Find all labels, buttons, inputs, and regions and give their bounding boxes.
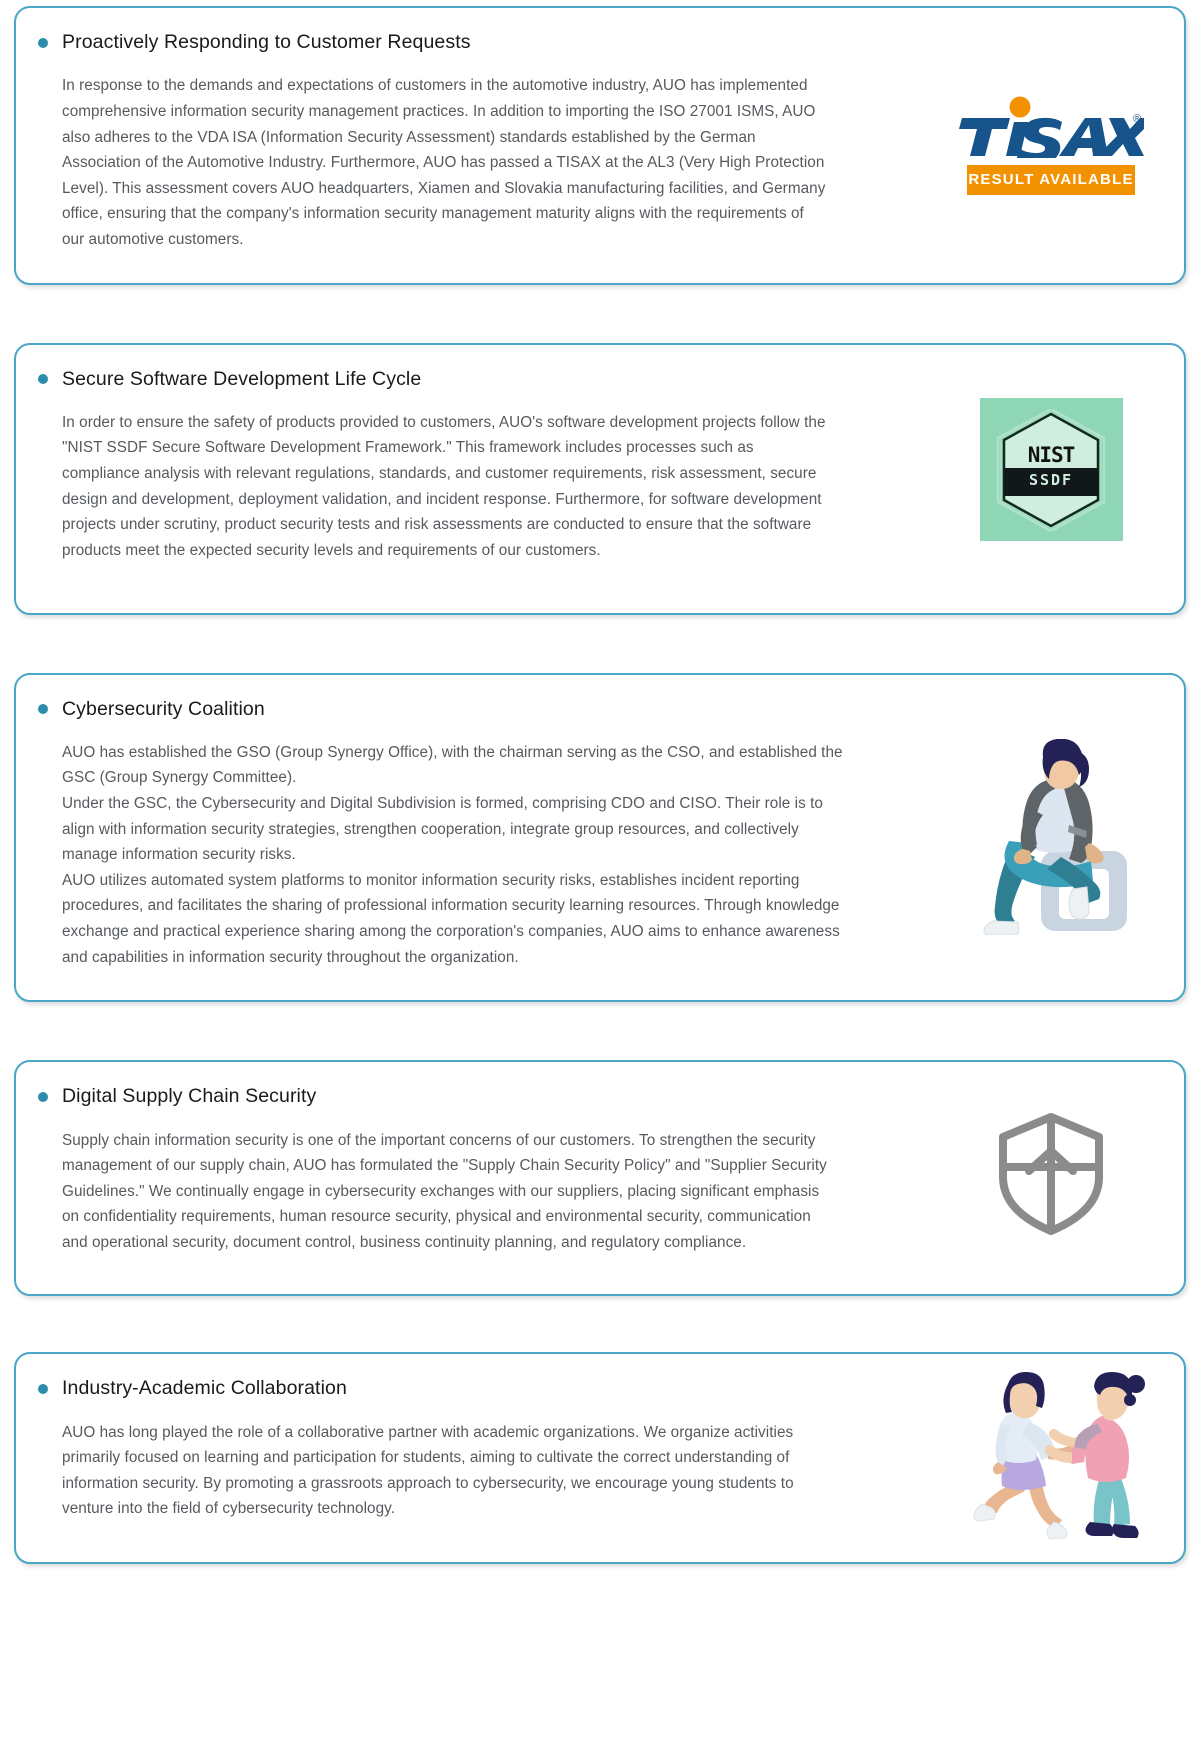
card-text-column: Industry-Academic Collaboration AUO has … — [16, 1354, 934, 1548]
tisax-wordmark-icon: ® — [958, 96, 1144, 158]
card-cybersecurity-coalition: Cybersecurity Coalition AUO has establis… — [14, 673, 1186, 1003]
card-proactively-responding: Proactively Responding to Customer Reque… — [14, 6, 1186, 285]
section-body: In order to ensure the safety of product… — [38, 410, 828, 564]
tisax-result-banner-label: RESULT AVAILABLE — [968, 171, 1133, 188]
section-heading: Proactively Responding to Customer Reque… — [38, 30, 926, 55]
card-inner: Proactively Responding to Customer Reque… — [16, 8, 1184, 283]
section-heading-label: Proactively Responding to Customer Reque… — [62, 30, 471, 55]
card-aside-illustration — [934, 1354, 1184, 1562]
section-body: AUO has long played the role of a collab… — [38, 1420, 800, 1522]
card-gap — [0, 615, 1200, 673]
section-body: Supply chain information security is one… — [38, 1128, 828, 1256]
paragraph: Under the GSC, the Cybersecurity and Dig… — [62, 791, 850, 868]
bullet-icon — [38, 1092, 48, 1102]
card-aside-nist: NIST SSDF — [934, 345, 1184, 596]
section-heading-label: Secure Software Development Life Cycle — [62, 367, 421, 392]
paragraph: AUO utilizes automated system platforms … — [62, 868, 850, 970]
card-aside-illustration — [934, 675, 1184, 1001]
card-inner: Digital Supply Chain Security Supply cha… — [16, 1062, 1184, 1285]
tisax-trademark-icon: ® — [1133, 113, 1141, 125]
person-sitting-illustration — [965, 739, 1137, 935]
card-inner: Cybersecurity Coalition AUO has establis… — [16, 675, 1184, 1001]
shield-icon — [995, 1111, 1107, 1237]
card-gap — [0, 1296, 1200, 1352]
paragraph: AUO has long played the role of a collab… — [62, 1420, 800, 1522]
card-industry-academic-collaboration: Industry-Academic Collaboration AUO has … — [14, 1352, 1186, 1564]
bullet-icon — [38, 704, 48, 714]
card-text-column: Digital Supply Chain Security Supply cha… — [16, 1062, 934, 1285]
card-secure-sdlc: Secure Software Development Life Cycle I… — [14, 343, 1186, 615]
two-people-illustration — [962, 1370, 1148, 1546]
card-text-column: Cybersecurity Coalition AUO has establis… — [16, 675, 934, 1001]
tisax-logo: ® RESULT AVAILABLE — [958, 96, 1144, 195]
paragraph: Supply chain information security is one… — [62, 1128, 828, 1256]
section-heading: Secure Software Development Life Cycle — [38, 367, 926, 392]
tisax-result-banner: RESULT AVAILABLE — [967, 165, 1135, 195]
nist-ssdf-badge: NIST SSDF — [980, 398, 1123, 541]
card-digital-supply-chain-security: Digital Supply Chain Security Supply cha… — [14, 1060, 1186, 1296]
card-aside-tisax: ® RESULT AVAILABLE — [934, 8, 1184, 283]
section-heading-label: Digital Supply Chain Security — [62, 1084, 316, 1109]
section-heading-label: Industry-Academic Collaboration — [62, 1376, 347, 1401]
card-aside-shield — [934, 1062, 1184, 1285]
card-gap — [0, 285, 1200, 343]
section-heading: Cybersecurity Coalition — [38, 697, 926, 722]
section-body: AUO has established the GSO (Group Syner… — [38, 740, 850, 970]
card-inner: Industry-Academic Collaboration AUO has … — [16, 1354, 1184, 1562]
section-heading-label: Cybersecurity Coalition — [62, 697, 265, 722]
nist-hexagon-icon: NIST SSDF — [995, 409, 1107, 531]
card-text-column: Secure Software Development Life Cycle I… — [16, 345, 934, 596]
bullet-icon — [38, 1384, 48, 1394]
security-practices-page: Proactively Responding to Customer Reque… — [0, 0, 1200, 1570]
card-text-column: Proactively Responding to Customer Reque… — [16, 8, 934, 283]
paragraph: In order to ensure the safety of product… — [62, 410, 828, 564]
paragraph: AUO has established the GSO (Group Syner… — [62, 740, 850, 791]
bullet-icon — [38, 374, 48, 384]
section-heading: Digital Supply Chain Security — [38, 1084, 926, 1109]
bullet-icon — [38, 38, 48, 48]
card-gap — [0, 1002, 1200, 1060]
card-inner: Secure Software Development Life Cycle I… — [16, 345, 1184, 596]
paragraph: In response to the demands and expectati… — [62, 73, 828, 252]
section-heading: Industry-Academic Collaboration — [38, 1376, 926, 1401]
section-body: In response to the demands and expectati… — [38, 73, 828, 252]
